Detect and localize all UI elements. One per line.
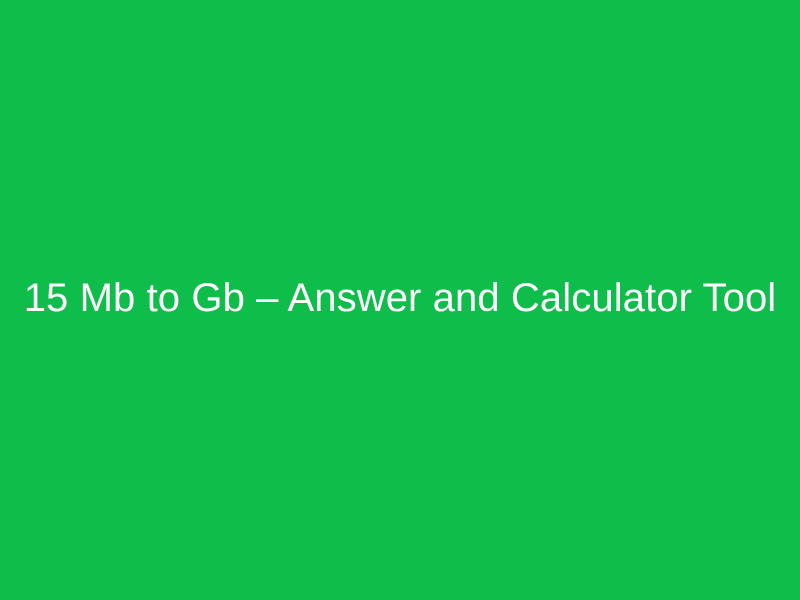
share-card: 15 Mb to Gb – Answer and Calculator Tool [0, 0, 800, 600]
page-title: 15 Mb to Gb – Answer and Calculator Tool [24, 274, 777, 322]
headline-block: 15 Mb to Gb – Answer and Calculator Tool [0, 274, 800, 322]
